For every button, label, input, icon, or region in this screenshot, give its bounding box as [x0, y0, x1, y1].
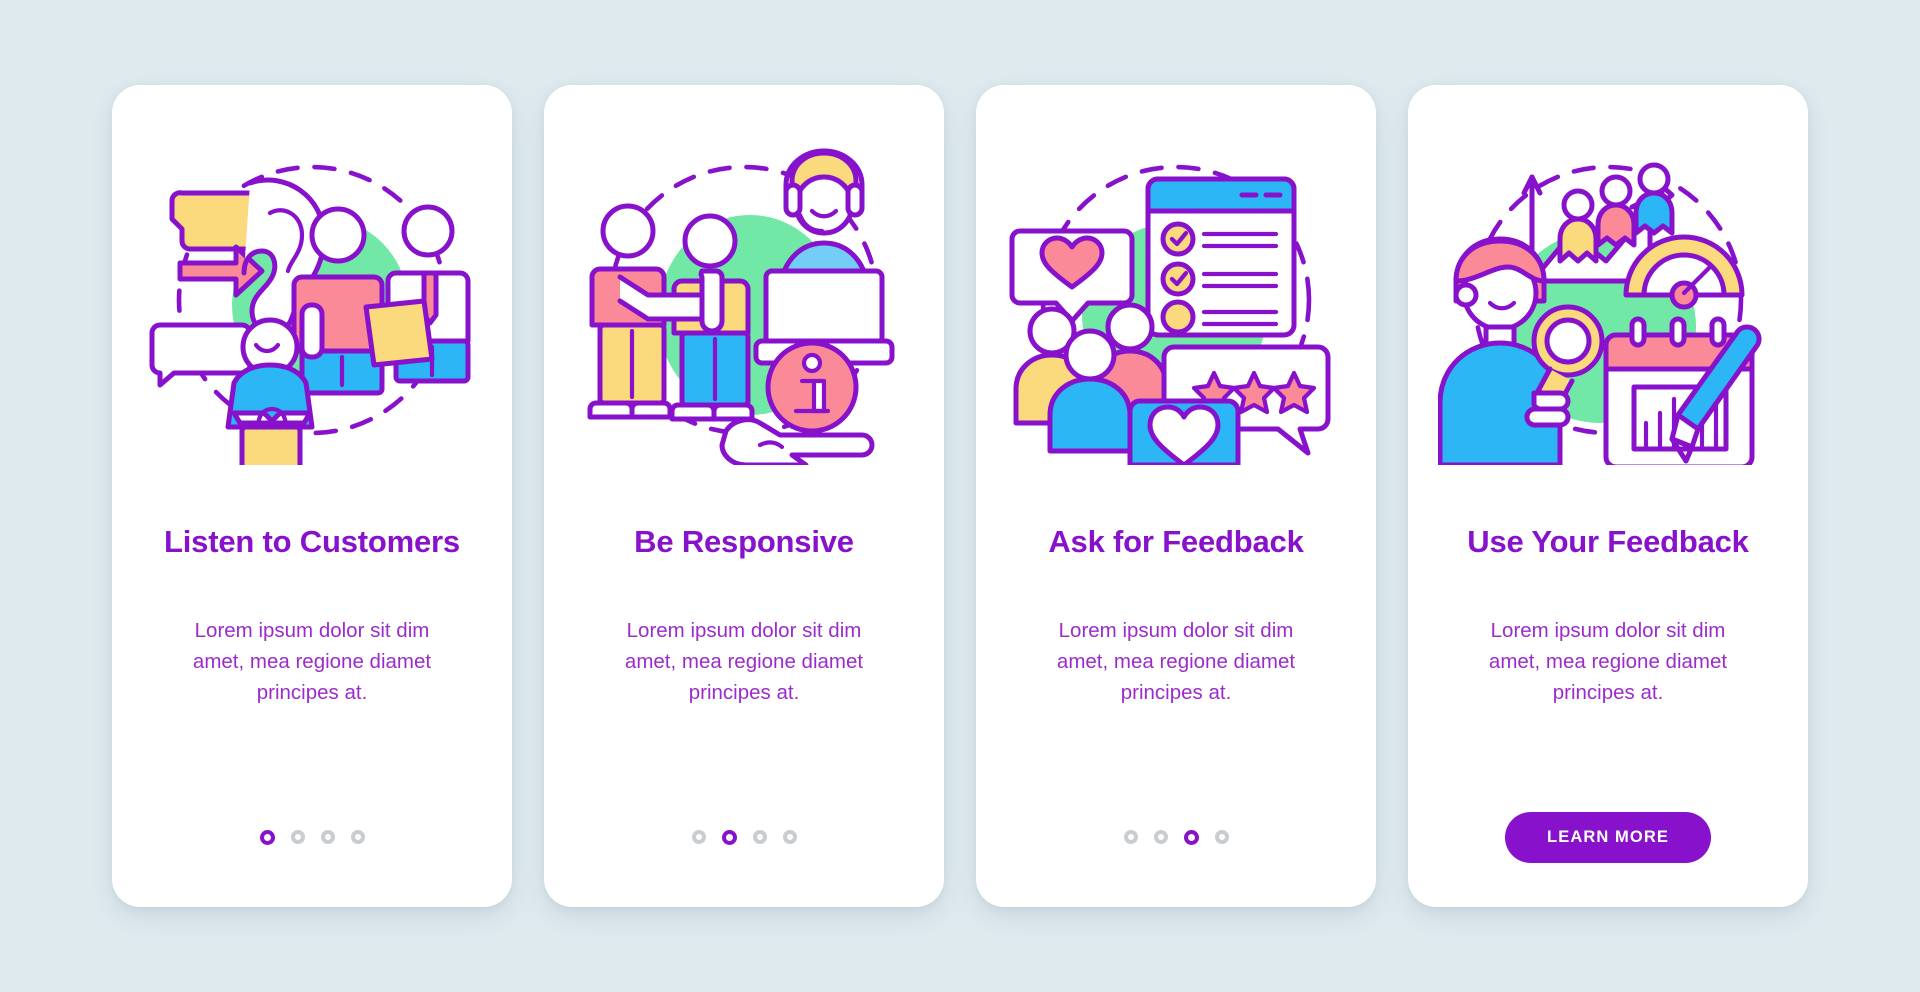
pagination-dot-1[interactable] — [692, 830, 706, 844]
pagination-dots[interactable] — [1124, 830, 1229, 845]
pagination-dot-4[interactable] — [783, 830, 797, 844]
pagination-dot-2[interactable] — [291, 830, 305, 844]
pagination-dots[interactable] — [692, 830, 797, 845]
page-description: Lorem ipsum dolor sit dim amet, mea regi… — [599, 615, 889, 708]
pagination-dot-1[interactable] — [1124, 830, 1138, 844]
onboarding-screen-listen-to-customers: Listen to Customers Lorem ipsum dolor si… — [112, 85, 512, 907]
pagination-dot-3[interactable] — [753, 830, 767, 844]
ear-speech-bubbles-people-illustration — [142, 135, 482, 465]
screen-footer — [142, 811, 482, 863]
pagination-dot-2[interactable] — [722, 830, 737, 845]
pagination-dot-3[interactable] — [1184, 830, 1199, 845]
page-description: Lorem ipsum dolor sit dim amet, mea regi… — [1463, 615, 1753, 708]
learn-more-button[interactable]: LEARN MORE — [1505, 812, 1711, 863]
pagination-dot-4[interactable] — [1215, 830, 1229, 844]
analyst-magnifier-chart-gauge-illustration — [1438, 135, 1778, 465]
survey-checklist-stars-hearts-illustration — [1006, 135, 1346, 465]
page-title: Be Responsive — [634, 525, 854, 559]
pagination-dot-3[interactable] — [321, 830, 335, 844]
page-title: Ask for Feedback — [1048, 525, 1303, 559]
page-description: Lorem ipsum dolor sit dim amet, mea regi… — [167, 615, 457, 708]
pagination-dot-4[interactable] — [351, 830, 365, 844]
handshake-support-agent-info-illustration — [574, 135, 914, 465]
page-title: Listen to Customers — [164, 525, 460, 559]
screen-footer — [1006, 811, 1346, 863]
pagination-dot-1[interactable] — [260, 830, 275, 845]
page-title: Use Your Feedback — [1467, 525, 1748, 559]
pagination-dot-2[interactable] — [1154, 830, 1168, 844]
page-description: Lorem ipsum dolor sit dim amet, mea regi… — [1031, 615, 1321, 708]
onboarding-screen-use-your-feedback: Use Your Feedback Lorem ipsum dolor sit … — [1408, 85, 1808, 907]
onboarding-screen-be-responsive: Be Responsive Lorem ipsum dolor sit dim … — [544, 85, 944, 907]
onboarding-screens-row: Listen to Customers Lorem ipsum dolor si… — [112, 85, 1808, 907]
onboarding-screen-ask-for-feedback: Ask for Feedback Lorem ipsum dolor sit d… — [976, 85, 1376, 907]
pagination-dots[interactable] — [260, 830, 365, 845]
screen-footer — [574, 811, 914, 863]
screen-footer: LEARN MORE — [1438, 811, 1778, 863]
